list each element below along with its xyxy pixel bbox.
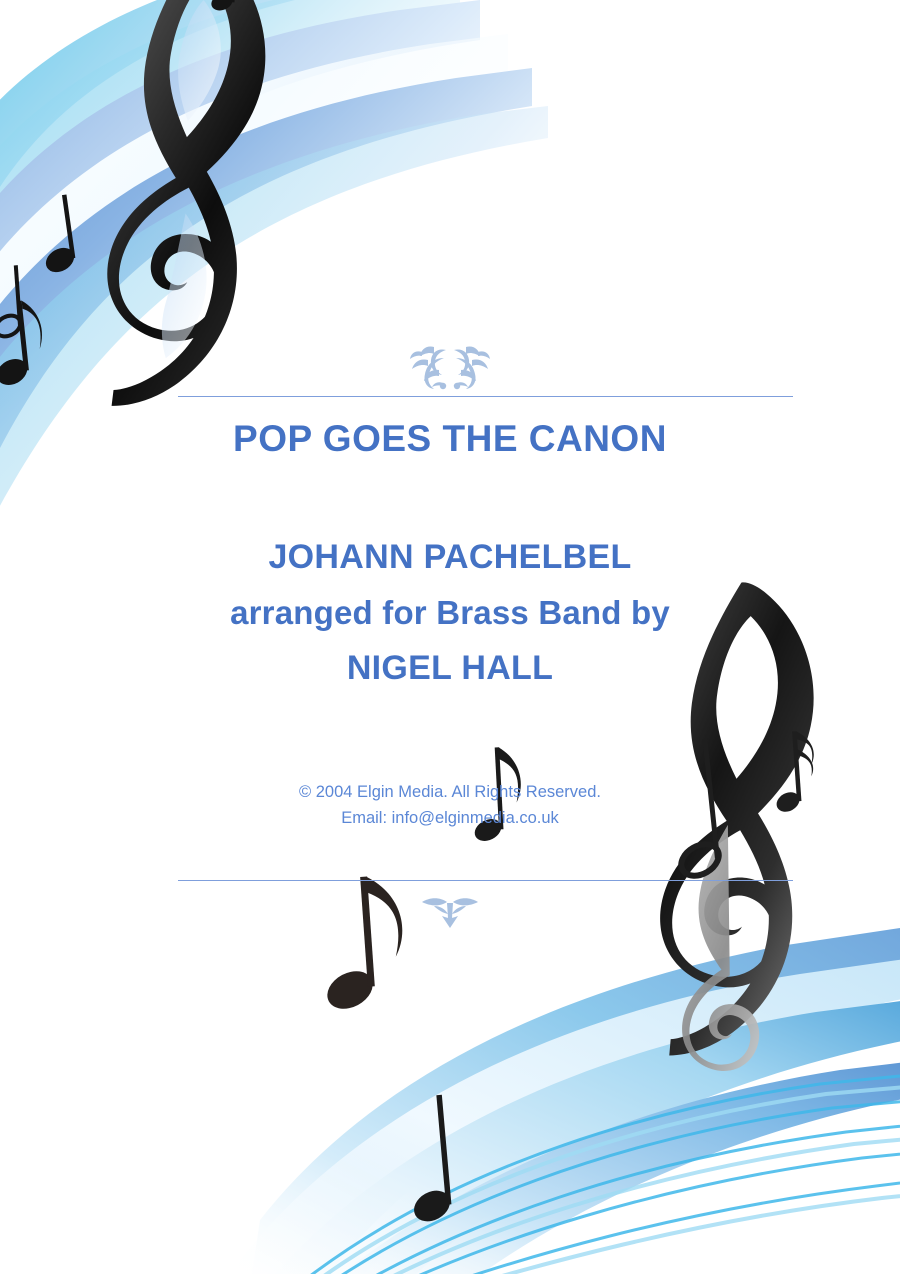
floral-flourish-pair-ornament-graphic: [402, 342, 498, 392]
treble-clef-music-notes-blue-ribbon-artwork: [0, 0, 620, 560]
arrangement-line: arranged for Brass Band by: [100, 596, 800, 629]
composer-name: JOHANN PACHELBEL: [100, 540, 800, 574]
floral-flourish-pair-ornament: [0, 342, 900, 398]
sheet-music-cover-page: POP GOES THE CANON JOHANN PACHELBEL arra…: [0, 0, 900, 1274]
divider-rule-bottom: [178, 880, 793, 881]
page-title: POP GOES THE CANON: [100, 418, 800, 461]
email-text: Email: info@elginmedia.co.uk: [100, 806, 800, 832]
divider-rule-top: [178, 396, 793, 397]
arranger-name: NIGEL HALL: [100, 651, 800, 685]
music-note-group: [0, 0, 476, 391]
leaf-fleuron-ornament-graphic: [420, 890, 480, 930]
leaf-fleuron-ornament: [0, 890, 900, 938]
copyright-text: © 2004 Elgin Media. All Rights Reserved.: [100, 780, 800, 806]
title-block: POP GOES THE CANON: [100, 418, 800, 461]
legal-block: © 2004 Elgin Media. All Rights Reserved.…: [100, 780, 800, 831]
credits-block: JOHANN PACHELBEL arranged for Brass Band…: [100, 540, 800, 685]
